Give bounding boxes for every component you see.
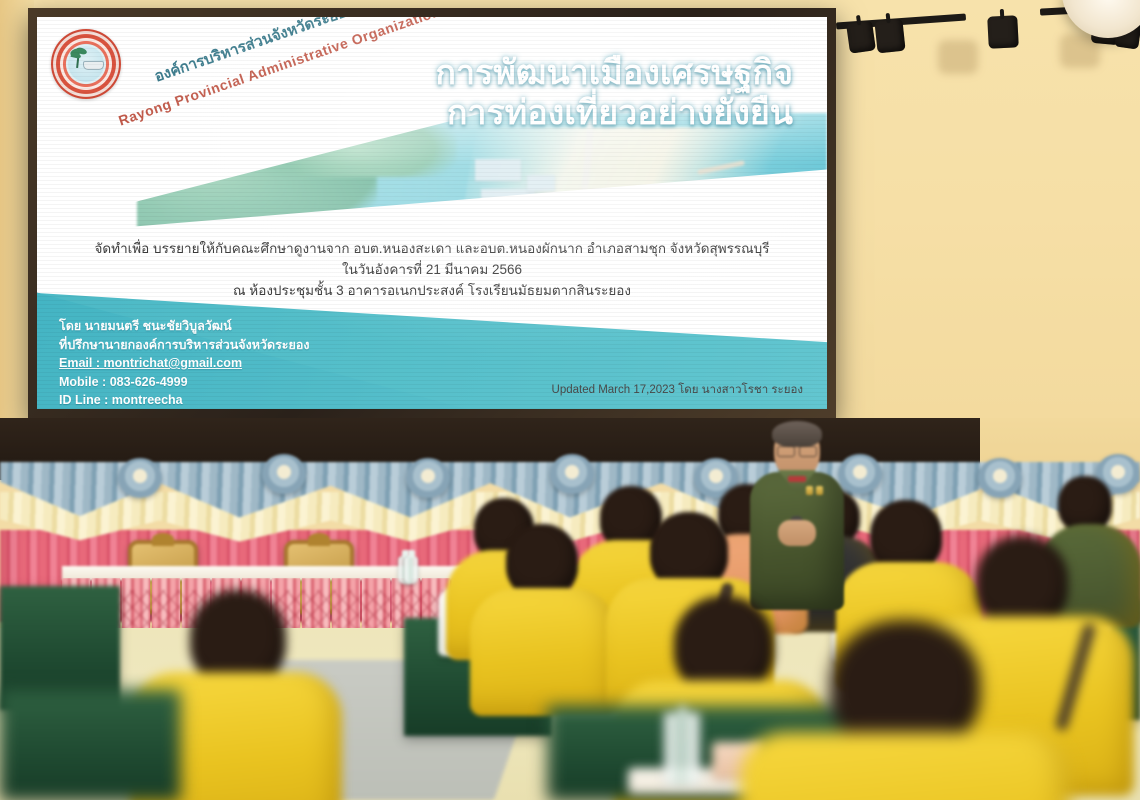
slide-title-line-1: การพัฒนาเมืองเศรษฐกิจ: [435, 53, 793, 93]
stage-light-icon-2: [874, 19, 905, 54]
contact-presenter-name: โดย นายมนตรี ชนะชัยวิบูลวัฒน์: [59, 317, 309, 336]
boat-icon: [83, 61, 104, 70]
presenter-lanyard: [788, 476, 806, 482]
slide-description: จัดทำเพื่อ บรรยายให้กับคณะศึกษาดูงานจาก …: [37, 239, 827, 302]
backdrop-rosette: [406, 458, 450, 498]
conference-photo-scene: องค์การบริหารส่วนจังหวัดระยอง Rayong Pro…: [0, 0, 1140, 800]
slide-contact-block: โดย นายมนตรี ชนะชัยวิบูลวัฒน์ ที่ปรึกษาน…: [59, 317, 309, 409]
stage-light-icon-1: [846, 20, 876, 53]
projection-screen-frame: องค์การบริหารส่วนจังหวัดระยอง Rayong Pro…: [28, 8, 836, 418]
backdrop-rosette: [118, 458, 162, 498]
presentation-slide: องค์การบริหารส่วนจังหวัดระยอง Rayong Pro…: [37, 17, 827, 409]
slide-title: การพัฒนาเมืองเศรษฐกิจ การท่องเที่ยวอย่าง…: [435, 53, 793, 133]
slide-title-line-2: การท่องเที่ยวอย่างยั่งยืน: [435, 93, 793, 133]
water-bottle: [404, 556, 418, 584]
contact-role: ที่ปรึกษานายกองค์การบริหารส่วนจังหวัดระย…: [59, 336, 309, 355]
slide-updated-note: Updated March 17,2023 โดย นางสาวโรชา ระย…: [552, 381, 803, 399]
stage-light-icon-3: [987, 15, 1019, 49]
backdrop-rosette: [978, 458, 1022, 498]
foreground-table: [0, 690, 180, 800]
presenter-hands: [778, 520, 816, 546]
presenter: [744, 424, 850, 610]
organization-seal-icon: [51, 29, 121, 99]
slide-description-line-3: ณ ห้องประชุมชั้น 3 อาคารอเนกประสงค์ โรงเ…: [37, 281, 827, 302]
presenter-badge: [816, 486, 823, 495]
backdrop-rosette: [262, 454, 306, 494]
slide-description-line-2: ในวันอังคารที่ 21 มีนาคม 2566: [37, 260, 827, 281]
seal-inner-disc: [68, 46, 104, 82]
lamp-shadow-a: [938, 40, 978, 74]
presenter-hair: [772, 421, 822, 447]
water-bottle: [664, 712, 700, 786]
presenter-badge: [806, 486, 813, 495]
backdrop-rosette: [550, 454, 594, 494]
contact-line-id: ID Line : montreecha: [59, 391, 309, 409]
eyeglasses-icon: [777, 446, 817, 455]
slide-description-line-1: จัดทำเพื่อ บรรยายให้กับคณะศึกษาดูงานจาก …: [37, 239, 827, 260]
contact-mobile: Mobile : 083-626-4999: [59, 373, 309, 392]
projection-screen: องค์การบริหารส่วนจังหวัดระยอง Rayong Pro…: [37, 17, 827, 409]
contact-email: Email : montrichat@gmail.com: [59, 354, 309, 373]
